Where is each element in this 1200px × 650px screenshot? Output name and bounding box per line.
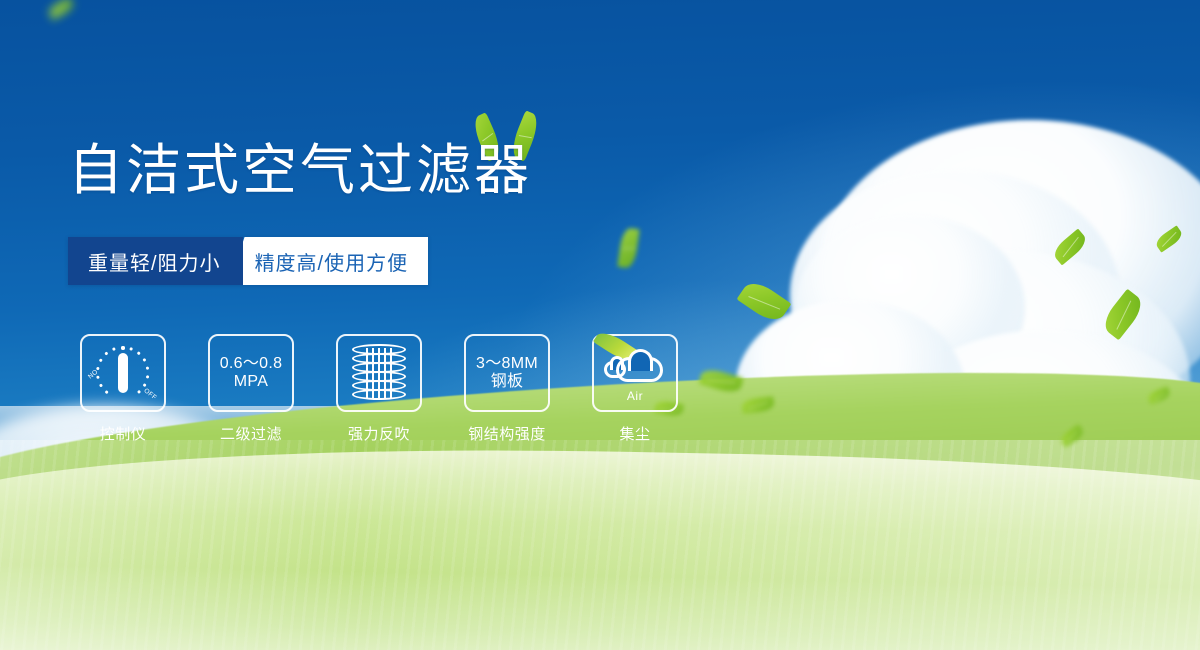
feature-box-steel-strength: 3～8MM 钢板 bbox=[464, 334, 550, 412]
feature-item-two-stage-filter[interactable]: 0.6～0.8 MPA 二级过滤 bbox=[208, 334, 294, 444]
dial-pointer bbox=[118, 353, 128, 393]
feature-label-two-stage-filter: 二级过滤 bbox=[208, 423, 294, 444]
feature-label-steel-strength: 钢结构强度 bbox=[464, 423, 550, 444]
filter-ring-6 bbox=[352, 389, 406, 400]
subtitle-bar: 重量轻/阻力小 精度高/使用方便 bbox=[68, 237, 428, 285]
feature-box-two-stage-filter: 0.6～0.8 MPA bbox=[208, 334, 294, 412]
filter-cartridge-icon bbox=[352, 344, 406, 402]
control-dial-icon: NO OFF bbox=[92, 344, 154, 402]
feature-item-back-blow[interactable]: 强力反吹 bbox=[336, 334, 422, 444]
cloud-shape-big bbox=[616, 357, 663, 382]
steel-value-line1: 3～8MM bbox=[476, 355, 538, 373]
product-hero-banner: 自洁式空气过滤器 重量轻/阻力小 精度高/使用方便 bbox=[0, 0, 1200, 650]
air-cloud-icon: Air bbox=[604, 347, 666, 399]
subtitle-primary: 重量轻/阻力小 bbox=[68, 237, 243, 285]
feature-label-back-blow: 强力反吹 bbox=[336, 423, 422, 444]
grass-hill-front bbox=[0, 439, 1200, 650]
pressure-value-line2: MPA bbox=[220, 373, 283, 391]
feature-box-dust-collection: Air bbox=[592, 334, 678, 412]
feature-box-back-blow bbox=[336, 334, 422, 412]
feature-item-control-dial[interactable]: NO OFF 控制仪 bbox=[80, 334, 166, 444]
feature-label-dust-collection: 集尘 bbox=[592, 423, 678, 444]
feature-item-steel-strength[interactable]: 3～8MM 钢板 钢结构强度 bbox=[464, 334, 550, 444]
feature-item-dust-collection[interactable]: Air 集尘 bbox=[592, 334, 678, 444]
subtitle-secondary: 精度高/使用方便 bbox=[229, 237, 429, 285]
steel-value-line2: 钢板 bbox=[476, 373, 538, 391]
feature-label-control-dial: 控制仪 bbox=[80, 423, 166, 444]
page-title: 自洁式空气过滤器 bbox=[68, 143, 532, 198]
pressure-value-line1: 0.6～0.8 bbox=[220, 355, 283, 373]
air-label: Air bbox=[604, 389, 666, 403]
pressure-text-icon: 0.6～0.8 MPA bbox=[220, 355, 283, 391]
steel-plate-text-icon: 3～8MM 钢板 bbox=[476, 355, 538, 391]
feature-box-control-dial: NO OFF bbox=[80, 334, 166, 412]
feature-list: NO OFF 控制仪 0.6～0.8 MPA 二级过滤 bbox=[80, 334, 678, 444]
